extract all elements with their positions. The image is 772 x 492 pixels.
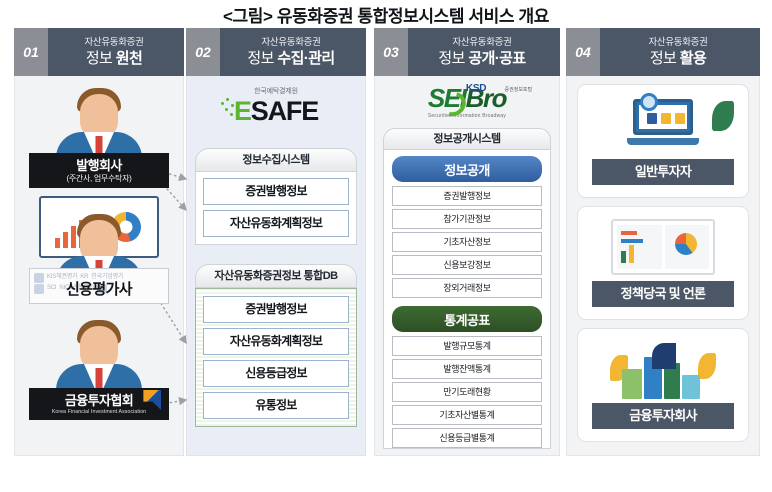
column-subtitle-01: 자산유동화증권 [48,36,180,49]
list-item[interactable]: 발행잔액통계 [392,359,542,379]
list-item[interactable]: 기초자산정보 [392,232,542,252]
user-card-policy-media[interactable]: 정책당국 및 언론 [577,206,749,320]
list-item[interactable]: 장외거래정보 [392,278,542,298]
leaf-shape [712,101,734,131]
laptop-shape [627,99,699,145]
rating-agency-nameplate: KIS채권평가KR한국기업평가 SCINICE신용평가 신용평가사 [29,268,169,304]
issuer-nameplate: 발행회사 (주간사, 업무수탁자) [29,153,169,188]
list-item[interactable]: 증권발행정보 [203,296,349,323]
column-body-03: KSD 증권정보포털 SEIBro Securities Information… [374,76,560,456]
column-subtitle-03: 자산유동화증권 [408,36,556,49]
column-maintitle-01: 정보 원천 [48,49,180,68]
column-body-01: 발행회사 (주간사, 업무수탁자) [14,76,184,456]
list-item[interactable]: 만기도래현황 [392,382,542,402]
list-item[interactable]: 유통정보 [203,392,349,419]
integrated-db-heading: 자산유동화증권정보 통합DB [195,264,357,288]
user-label: 일반투자자 [592,159,734,185]
user-label: 금융투자회사 [592,403,734,429]
column-subtitle-02: 자산유동화증권 [220,36,362,49]
column-information-utilization: 04 자산유동화증권 정보 활용 [566,28,760,456]
list-item[interactable]: 신용등급별통계 [392,428,542,448]
list-item[interactable]: 발행규모통계 [392,336,542,356]
column-header-02: 02 자산유동화증권 정보 수집·관리 [186,28,366,76]
chart-panel [617,225,662,269]
column-header-03: 03 자산유동화증권 정보 공개·공표 [374,28,560,76]
disclosure-system-body: 정보공개 증권발행정보 참가기관정보 기초자산정보 신용보강정보 장외거래정보 … [383,150,551,449]
building-shape [682,375,700,399]
issuer-name: 발행회사 [31,158,167,173]
column-title-03: 자산유동화증권 정보 공개·공표 [408,36,560,68]
dashboard-analytics-icon [578,213,748,277]
group-heading-disclosure: 정보공개 [392,156,542,182]
kofia-name-en: Korea Financial Investment Association [31,408,167,416]
column-maintitle-02: 정보 수집·관리 [220,49,362,68]
column-title-04: 자산유동화증권 정보 활용 [600,36,760,68]
column-maintitle-03: 정보 공개·공표 [408,49,556,68]
seibro-logo: KSD 증권정보포털 SEIBro Securities Information… [375,84,559,126]
list-item[interactable]: 증권발행정보 [203,178,349,205]
leaf-shape [698,353,716,379]
column-collection-management: 02 자산유동화증권 정보 수집·관리 한국예탁결제원 ESAFE 정보수집시스… [186,28,366,456]
column-header-01: 01 자산유동화증권 정보 원천 [14,28,184,76]
column-subtitle-04: 자산유동화증권 [600,36,756,49]
kis-logo-icon [34,273,44,283]
source-rating-agency[interactable]: KIS채권평가KR한국기업평가 SCINICE신용평가 신용평가사 [21,196,177,308]
laptop-base [627,138,699,145]
esafe-dots-icon [221,98,241,118]
group-heading-statistics: 통계공표 [392,306,542,332]
issuer-subtitle: (주간사, 업무수탁자) [31,173,167,184]
column-header-04: 04 자산유동화증권 정보 활용 [566,28,760,76]
list-item[interactable]: 기초자산별통계 [392,405,542,425]
list-item[interactable]: 참가기관정보 [392,209,542,229]
column-title-02: 자산유동화증권 정보 수집·관리 [220,36,366,68]
column-number-03: 03 [374,28,408,76]
column-information-source: 01 자산유동화증권 정보 원천 발행회사 [14,28,184,456]
user-card-retail-investor[interactable]: 일반투자자 [577,84,749,198]
collection-system-heading: 정보수집시스템 [195,148,357,172]
user-label: 정책당국 및 언론 [592,281,734,307]
column-body-04: 일반투자자 정책당국 [566,76,760,456]
doc-icon [661,113,671,124]
list-item[interactable]: 자산유동화계획정보 [203,210,349,237]
source-issuer[interactable]: 발행회사 (주간사, 업무수탁자) [21,80,177,192]
integrated-db-items: 증권발행정보 자산유동화계획정보 신용등급정보 유통정보 [195,288,357,427]
user-card-financial-company[interactable]: 금융투자회사 [577,328,749,442]
ksd-logo-subtext: 증권정보포털 [505,86,533,93]
list-item[interactable]: 신용등급정보 [203,360,349,387]
page-title: <그림> 유동화증권 통합정보시스템 서비스 개요 [0,0,772,28]
seibro-tagline: Securities Information Broadway [428,112,506,120]
collection-system-panel: 정보수집시스템 증권발행정보 자산유동화계획정보 [195,148,357,245]
esafe-wordmark: ESAFE [187,96,365,126]
chart-panel [665,225,710,269]
search-icon [640,93,658,111]
integrated-db-panel: 자산유동화증권정보 통합DB 증권발행정보 자산유동화계획정보 신용등급정보 유… [195,264,357,427]
city-shape [608,341,718,399]
column-disclosure-publication: 03 자산유동화증권 정보 공개·공표 KSD 증권정보포털 SEIBro Se… [374,28,560,456]
column-number-02: 02 [186,28,220,76]
list-item[interactable]: 증권발행정보 [392,186,542,206]
building-shape [622,369,642,399]
ksd-logo-text: KSD [466,83,486,94]
source-kofia[interactable]: 금융투자협회 Korea Financial Investment Associ… [21,312,177,424]
list-item[interactable]: 신용보강정보 [392,255,542,275]
city-buildings-icon [578,335,748,399]
list-item[interactable]: 자산유동화계획정보 [203,328,349,355]
diagram-board: 01 자산유동화증권 정보 원천 발행회사 [0,28,772,464]
disclosure-system-heading: 정보공개시스템 [383,128,551,150]
column-maintitle-04: 정보 활용 [600,49,756,68]
doc-icon [647,113,657,124]
column-number-04: 04 [566,28,600,76]
kofia-nameplate: 금융투자협회 Korea Financial Investment Associ… [29,388,169,420]
rating-agency-name: 신용평가사 [32,282,166,297]
esafe-org-name: 한국예탁결제원 [187,86,365,96]
doc-icon [675,113,685,124]
dashboard-shape [611,219,715,275]
column-number-01: 01 [14,28,48,76]
collection-system-items: 증권발행정보 자산유동화계획정보 [195,172,357,245]
building-shape [652,343,676,369]
laptop-search-icon [578,91,748,155]
column-body-02: 한국예탁결제원 ESAFE 정보수집시스템 증권발행정보 자산유동화계획정보 자… [186,76,366,456]
esafe-logo: 한국예탁결제원 ESAFE [187,86,365,126]
column-title-01: 자산유동화증권 정보 원천 [48,36,184,68]
